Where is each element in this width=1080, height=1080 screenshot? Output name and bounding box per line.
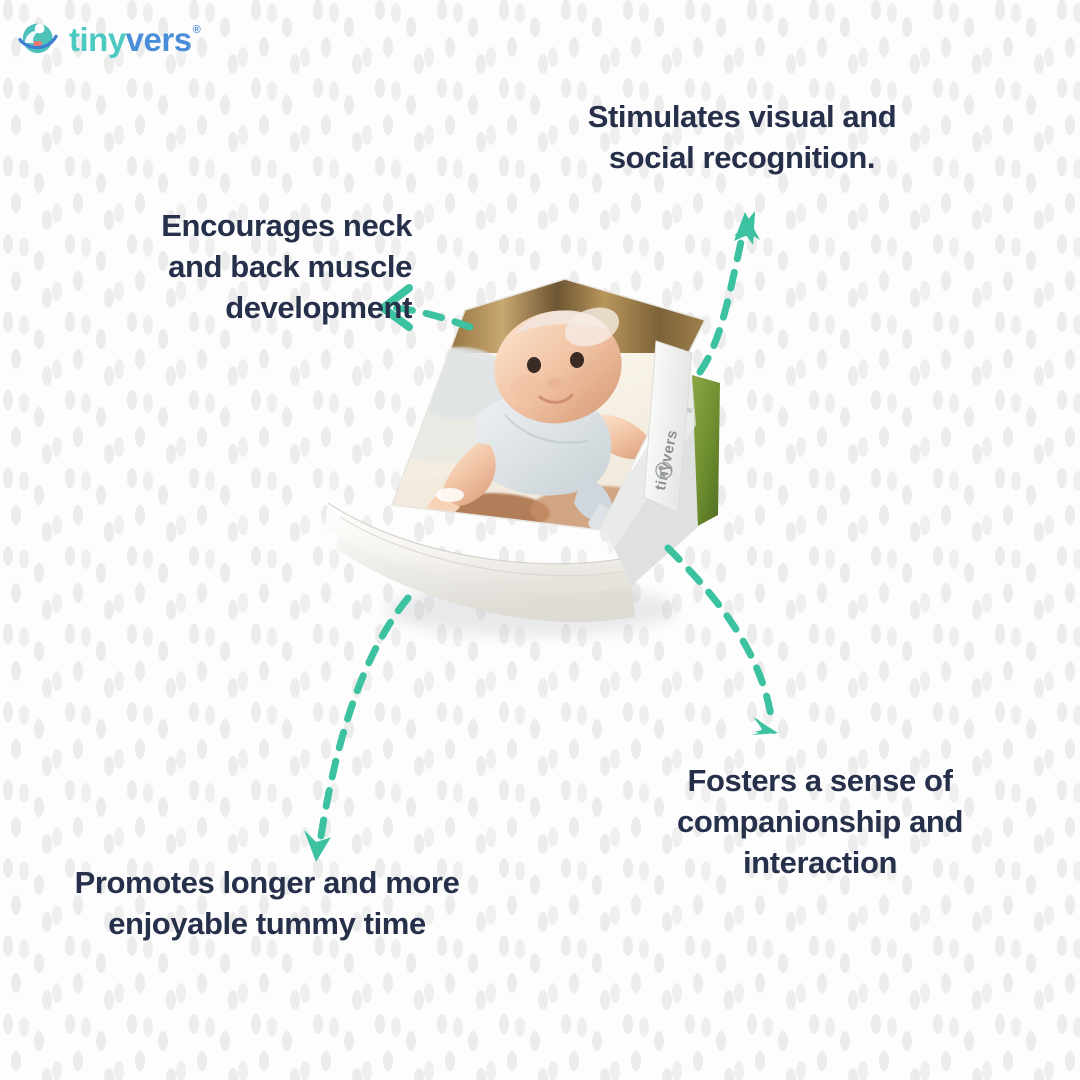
caption-encourages-neck-back-muscle-development: Encourages neck and back muscle developm… <box>122 205 412 329</box>
registered-mark: ® <box>193 25 201 36</box>
wordmark-tiny: tiny <box>69 23 126 56</box>
brand-wordmark: tinyvers® <box>69 23 199 56</box>
caption-fosters-companionship-interaction: Fosters a sense of companionship and int… <box>650 760 990 884</box>
arrowhead-stimulates <box>733 208 759 245</box>
brand-logo[interactable]: tinyvers® <box>18 18 199 60</box>
wordmark-vers: vers <box>126 23 192 56</box>
tinyvers-globe-heart-icon <box>18 18 60 60</box>
arrowhead-fosters <box>754 718 776 734</box>
caption-stimulates-visual-social-recognition: Stimulates visual and social recognition… <box>532 96 952 178</box>
arrowhead-promotes <box>306 832 329 860</box>
infographic-canvas: tinyvers® <box>0 0 1080 1080</box>
caption-promotes-enjoyable-tummy-time: Promotes longer and more enjoyable tummy… <box>52 862 482 944</box>
